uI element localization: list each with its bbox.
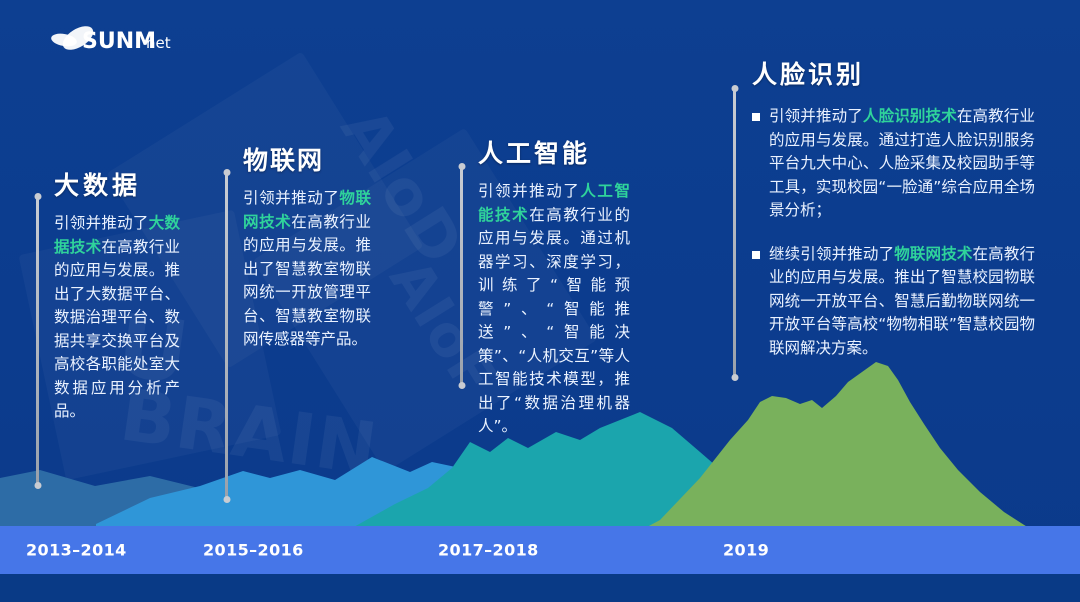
body-text: 引领并推动了 [478,182,580,200]
connector-line-3 [460,166,463,386]
connector-dot-top [34,193,41,200]
year-label-2019: 2019 [723,541,769,560]
connector-dot-top [458,163,465,170]
column-ai: 人工智能 引领并推动了人工智能技术在高教行业的应用与发展。通过机器学习、深度学习… [478,134,630,439]
year-label-2013-2014: 2013–2014 [26,541,127,560]
column-body-big-data: 引领并推动了大数据技术在高教行业的应用与发展。推出了大数据平台、数据治理平台、数… [54,212,180,424]
highlighted-term: 人脸识别技术 [863,107,957,125]
bullet-text: 引领并推动了人脸识别技术在高教行业的应用与发展。通过打造人脸识别服务平台九大中心… [769,105,1035,223]
body-text: 引领并推动了 [769,107,863,125]
bottom-bar [0,574,1080,602]
body-text: 引领并推动了 [243,189,339,207]
brand-logo: SUNM net [38,18,218,60]
highlighted-term: 物联网技术 [894,245,972,263]
slide-canvas: AIoD AIoF U BRAIN 2013–2014 2015–2016 20… [0,0,1080,602]
bullet-item: 引领并推动了人脸识别技术在高教行业的应用与发展。通过打造人脸识别服务平台九大中心… [752,105,1035,223]
connector-dot-bottom [223,496,230,503]
column-title-big-data: 大数据 [54,166,180,202]
timeline-year-band: 2013–2014 2015–2016 2017–2018 2019 [0,526,1080,574]
column-face-recognition: 人脸识别 引领并推动了人脸识别技术在高教行业的应用与发展。通过打造人脸识别服务平… [752,55,1035,360]
column-title-iot: 物联网 [243,141,371,177]
brand-name-bold: SUNM [82,29,156,54]
connector-line-2 [225,172,228,500]
column-title-ai: 人工智能 [478,134,630,170]
body-text: 在高教行业的应用与发展。推出了大数据平台、数据治理平台、数据共享交换平台及高校各… [54,238,180,421]
swoosh-logo-icon: SUNM net [38,18,218,60]
connector-line-1 [36,196,39,486]
column-big-data: 大数据 引领并推动了大数据技术在高教行业的应用与发展。推出了大数据平台、数据治理… [54,166,180,424]
connector-dot-bottom [458,382,465,389]
column-body-iot: 引领并推动了物联网技术在高教行业的应用与发展。推出了智慧教室物联网统一开放管理平… [243,187,371,352]
column-iot: 物联网 引领并推动了物联网技术在高教行业的应用与发展。推出了智慧教室物联网统一开… [243,141,371,352]
year-label-2017-2018: 2017–2018 [438,541,539,560]
body-text: 在高教行业的应用与发展。通过机器学习、深度学习，训练了“智能预警”、“智能推送”… [478,206,630,436]
column-title-face-recognition: 人脸识别 [752,55,1035,91]
bullet-text: 继续引领并推动了物联网技术在高教行业的应用与发展。推出了智慧校园物联网统一开放平… [769,243,1035,361]
body-text: 继续引领并推动了 [769,245,894,263]
connector-dot-bottom [731,374,738,381]
connector-line-4 [733,88,736,378]
bullet-square-icon [752,113,760,121]
bullet-square-icon [752,251,760,259]
connector-dot-top [223,169,230,176]
bullet-item: 继续引领并推动了物联网技术在高教行业的应用与发展。推出了智慧校园物联网统一开放平… [752,243,1035,361]
brand-name-light: net [146,34,171,52]
body-text: 引领并推动了 [54,214,149,232]
body-text: 在高教行业的应用与发展。推出了智慧教室物联网统一开放管理平台、智慧教室物联网传感… [243,213,371,349]
connector-dot-top [731,85,738,92]
connector-dot-bottom [34,482,41,489]
column-body-ai: 引领并推动了人工智能技术在高教行业的应用与发展。通过机器学习、深度学习，训练了“… [478,180,630,439]
year-label-2015-2016: 2015–2016 [203,541,304,560]
